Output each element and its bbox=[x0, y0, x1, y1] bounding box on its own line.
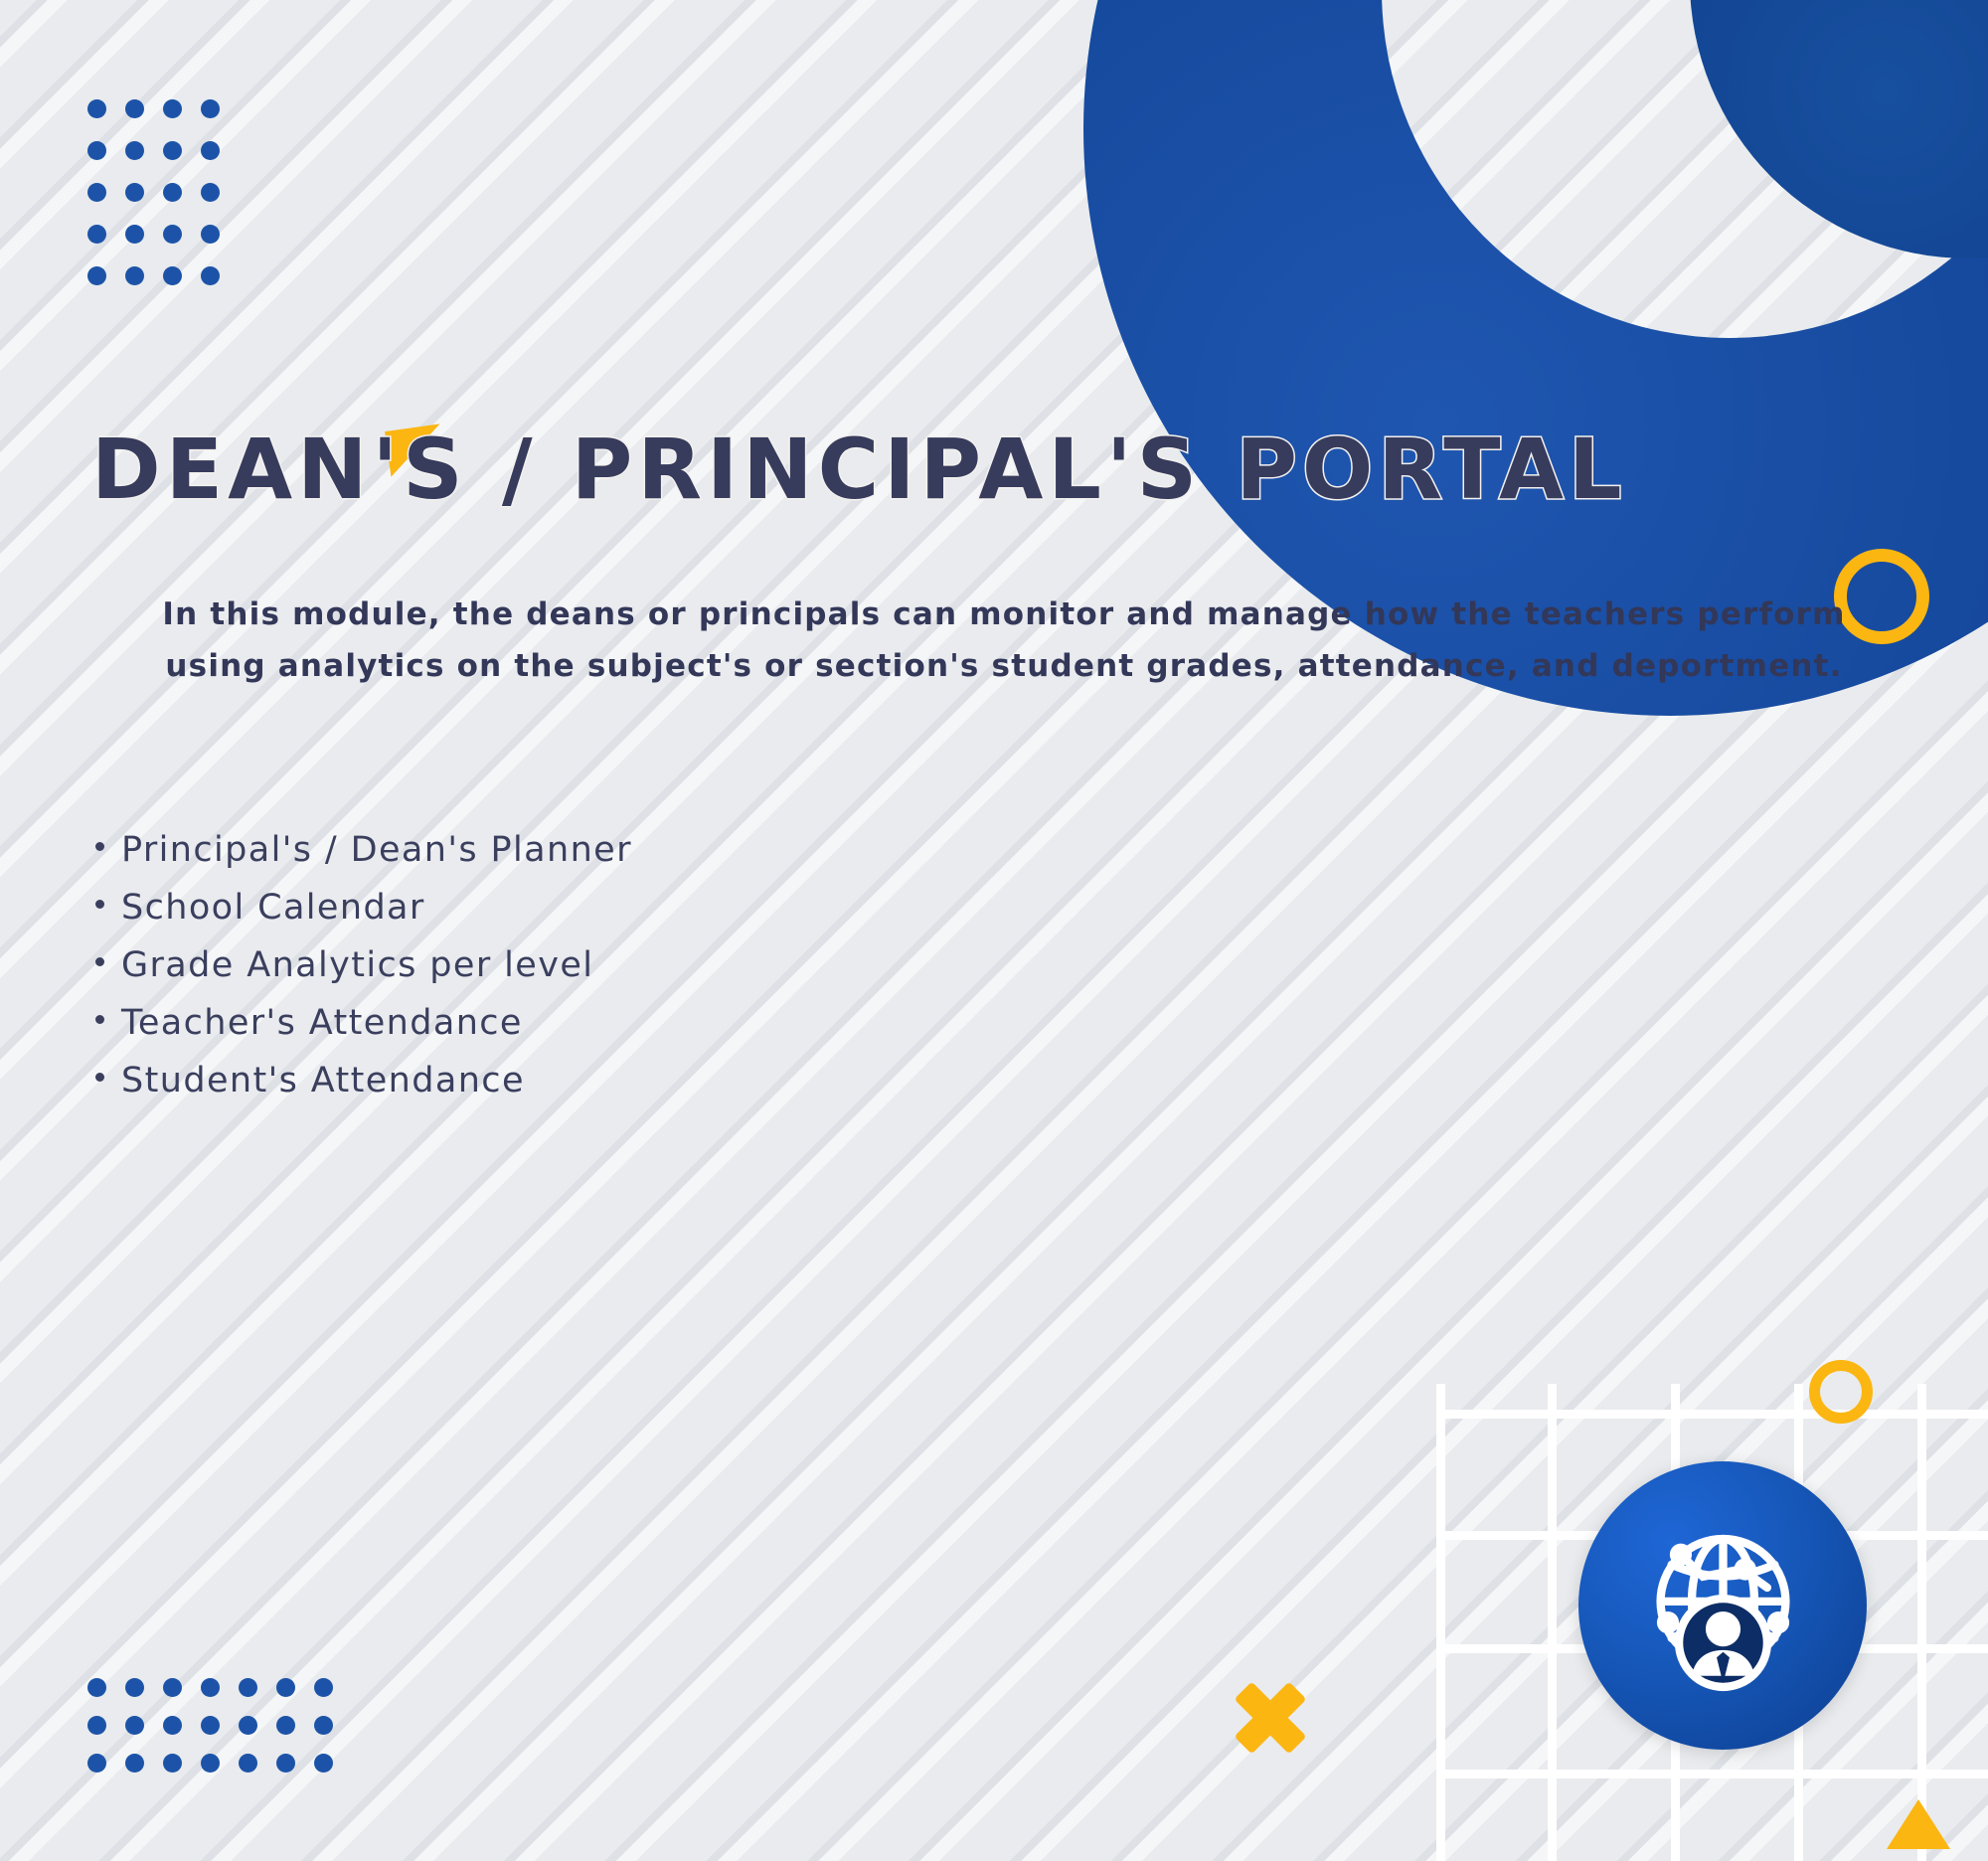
grid-dot bbox=[201, 141, 220, 160]
list-item-label: School Calendar bbox=[121, 879, 425, 936]
list-item-label: Teacher's Attendance bbox=[121, 994, 523, 1052]
list-item-label: Student's Attendance bbox=[121, 1052, 525, 1109]
x-mark-icon bbox=[1233, 1680, 1308, 1756]
grid-dot bbox=[87, 1716, 106, 1735]
list-item: Teacher's Attendance bbox=[95, 994, 632, 1052]
grid-dot bbox=[125, 183, 144, 202]
grid-dot bbox=[163, 225, 182, 244]
grid-dot bbox=[163, 1678, 182, 1697]
list-item: Student's Attendance bbox=[95, 1052, 632, 1109]
list-item-label: Grade Analytics per level bbox=[121, 936, 593, 994]
grid-dot bbox=[125, 141, 144, 160]
grid-dot bbox=[87, 225, 106, 244]
grid-dot bbox=[163, 266, 182, 285]
list-item: Principal's / Dean's Planner bbox=[95, 821, 632, 879]
grid-dot bbox=[87, 266, 106, 285]
dot-grid-top-left bbox=[87, 99, 239, 308]
grid-dot bbox=[163, 1754, 182, 1773]
grid-dot bbox=[125, 1754, 144, 1773]
grid-dot bbox=[87, 1678, 106, 1697]
bullet-dot-icon bbox=[95, 957, 104, 966]
grid-dot bbox=[87, 1754, 106, 1773]
grid-dot bbox=[201, 1716, 220, 1735]
yellow-ring-small-icon bbox=[1809, 1360, 1873, 1424]
grid-dot bbox=[125, 225, 144, 244]
page-title-wrapper: DEAN'S / PRINCIPAL'S PORTAL bbox=[91, 427, 1930, 527]
grid-dot bbox=[125, 99, 144, 118]
grid-dot bbox=[239, 1716, 257, 1735]
grid-dot bbox=[201, 1754, 220, 1773]
grid-dot bbox=[125, 1678, 144, 1697]
list-item: Grade Analytics per level bbox=[95, 936, 632, 994]
grid-dot bbox=[276, 1716, 295, 1735]
grid-dot bbox=[125, 266, 144, 285]
slide-canvas: DEAN'S / PRINCIPAL'S PORTAL In this modu… bbox=[0, 0, 1988, 1861]
grid-dot bbox=[276, 1678, 295, 1697]
grid-dot bbox=[87, 141, 106, 160]
grid-dot bbox=[201, 1678, 220, 1697]
grid-line-vertical bbox=[1548, 1384, 1557, 1861]
grid-dot bbox=[163, 183, 182, 202]
bullet-dot-icon bbox=[95, 842, 104, 851]
list-item-label: Principal's / Dean's Planner bbox=[121, 821, 632, 879]
yellow-triangle-icon bbox=[1887, 1799, 1950, 1849]
grid-dot bbox=[276, 1754, 295, 1773]
grid-line-vertical bbox=[1436, 1384, 1445, 1861]
grid-dot bbox=[201, 99, 220, 118]
grid-dot bbox=[87, 183, 106, 202]
grid-dot bbox=[239, 1754, 257, 1773]
grid-dot bbox=[314, 1754, 333, 1773]
grid-dot bbox=[314, 1678, 333, 1697]
grid-dot bbox=[87, 99, 106, 118]
grid-dot bbox=[201, 225, 220, 244]
grid-dot bbox=[125, 1716, 144, 1735]
bullet-dot-icon bbox=[95, 900, 104, 909]
grid-dot bbox=[239, 1678, 257, 1697]
grid-dot bbox=[201, 266, 220, 285]
grid-dot bbox=[201, 183, 220, 202]
grid-dot bbox=[163, 141, 182, 160]
bullet-dot-icon bbox=[95, 1073, 104, 1082]
globe-user-icon bbox=[1578, 1461, 1867, 1750]
grid-dot bbox=[163, 1716, 182, 1735]
list-item: School Calendar bbox=[95, 879, 632, 936]
grid-dot bbox=[314, 1716, 333, 1735]
page-title: DEAN'S / PRINCIPAL'S PORTAL bbox=[91, 427, 1930, 511]
module-description: In this module, the deans or principals … bbox=[149, 589, 1859, 692]
grid-line-horizontal bbox=[1436, 1770, 1988, 1778]
feature-list: Principal's / Dean's Planner School Cale… bbox=[95, 821, 632, 1109]
dot-grid-bottom-left bbox=[87, 1678, 352, 1791]
bullet-dot-icon bbox=[95, 1015, 104, 1024]
grid-dot bbox=[163, 99, 182, 118]
grid-line-horizontal bbox=[1436, 1410, 1988, 1419]
grid-line-vertical bbox=[1917, 1384, 1926, 1861]
